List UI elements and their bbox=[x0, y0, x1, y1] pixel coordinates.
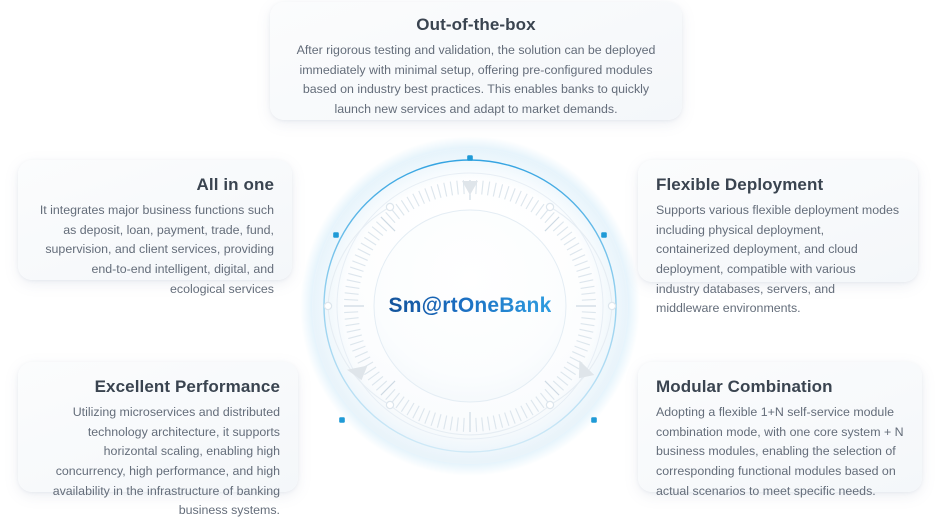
tick-mark bbox=[582, 312, 596, 313]
card-excellent-performance[interactable]: Excellent Performance Utilizing microser… bbox=[18, 362, 298, 492]
endpoint-marker-1 bbox=[386, 203, 393, 210]
card-flexible-deployment[interactable]: Flexible Deployment Supports various fle… bbox=[638, 160, 918, 282]
card-title: All in one bbox=[36, 174, 274, 195]
endpoint-marker-6 bbox=[546, 401, 553, 408]
tick-mark bbox=[344, 312, 358, 313]
tick-mark bbox=[344, 299, 358, 300]
endpoint-marker-4 bbox=[608, 302, 615, 309]
tick-mark bbox=[582, 299, 596, 300]
card-body: Utilizing microservices and distributed … bbox=[36, 403, 280, 521]
ring-node-bottom-right bbox=[591, 417, 597, 423]
endpoint-marker-3 bbox=[324, 302, 331, 309]
card-all-in-one[interactable]: All in one It integrates major business … bbox=[18, 160, 292, 280]
card-body: After rigorous testing and validation, t… bbox=[288, 41, 664, 119]
ring-node-top bbox=[467, 155, 473, 161]
card-title: Excellent Performance bbox=[36, 376, 280, 397]
tick-mark bbox=[476, 418, 477, 432]
card-title: Flexible Deployment bbox=[656, 174, 900, 195]
card-body: Supports various flexible deployment mod… bbox=[656, 201, 900, 319]
inner-disc bbox=[374, 210, 566, 402]
card-out-of-the-box[interactable]: Out-of-the-box After rigorous testing an… bbox=[270, 2, 682, 120]
endpoint-marker-5 bbox=[386, 401, 393, 408]
feature-diagram-page: Sm@rtOneBank Out-of-the-box After rigoro… bbox=[0, 0, 941, 500]
ring-node-bottom-left bbox=[339, 417, 345, 423]
card-title: Out-of-the-box bbox=[288, 14, 664, 35]
card-body: It integrates major business functions s… bbox=[36, 201, 274, 299]
card-body: Adopting a flexible 1+N self-service mod… bbox=[656, 403, 904, 501]
endpoint-marker-2 bbox=[546, 203, 553, 210]
card-modular-combination[interactable]: Modular Combination Adopting a flexible … bbox=[638, 362, 922, 492]
tick-mark bbox=[463, 418, 464, 432]
center-graphic: Sm@rtOneBank bbox=[294, 130, 646, 482]
ring-node-right bbox=[601, 232, 607, 238]
card-title: Modular Combination bbox=[656, 376, 904, 397]
ring-node-left bbox=[333, 232, 339, 238]
